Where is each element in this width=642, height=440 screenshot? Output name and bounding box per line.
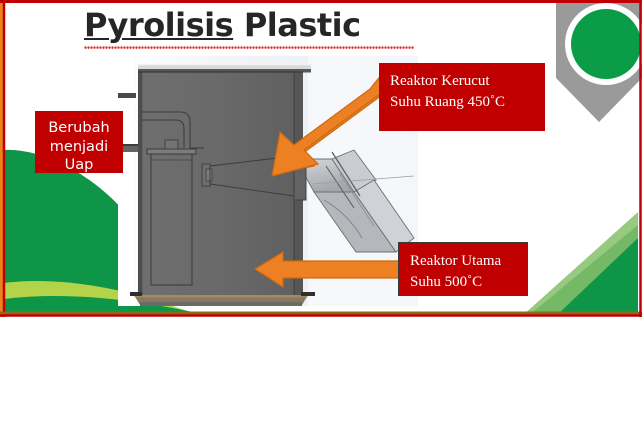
callout-line-3: Uap xyxy=(41,156,117,175)
title-misspelled-word: Pyrolisis xyxy=(84,6,233,44)
callout-berubah-menjadi-uap: Berubah menjadi Uap xyxy=(35,111,123,173)
arrow-to-cone-reactor xyxy=(252,76,392,181)
callout-line-1: Reaktor Utama xyxy=(410,251,516,272)
spellcheck-squiggle-underline xyxy=(84,46,414,50)
callout-line-1: Reaktor Kerucut xyxy=(390,71,534,92)
callout-line-2: menjadi xyxy=(41,138,117,157)
logo-circle xyxy=(571,9,641,79)
callout-line-2: Suhu 500˚C xyxy=(410,272,516,293)
title-rest: Plastic xyxy=(233,6,360,44)
posko-hijau-logo xyxy=(553,0,642,122)
callout-reaktor-utama: Reaktor Utama Suhu 500˚C xyxy=(398,242,528,296)
callout-reaktor-kerucut: Reaktor Kerucut Suhu Ruang 450˚C xyxy=(379,63,545,131)
reactor-top-plate xyxy=(138,64,311,73)
arrow-to-main-reactor xyxy=(255,248,400,290)
page-title: Pyrolisis Plastic xyxy=(84,6,414,44)
callout-line-1: Berubah xyxy=(41,119,117,138)
presentation-slide: Pyrolisis Plastic xyxy=(0,0,642,317)
page-blank-area xyxy=(0,317,642,440)
callout-line-2: Suhu Ruang 450˚C xyxy=(390,92,534,113)
